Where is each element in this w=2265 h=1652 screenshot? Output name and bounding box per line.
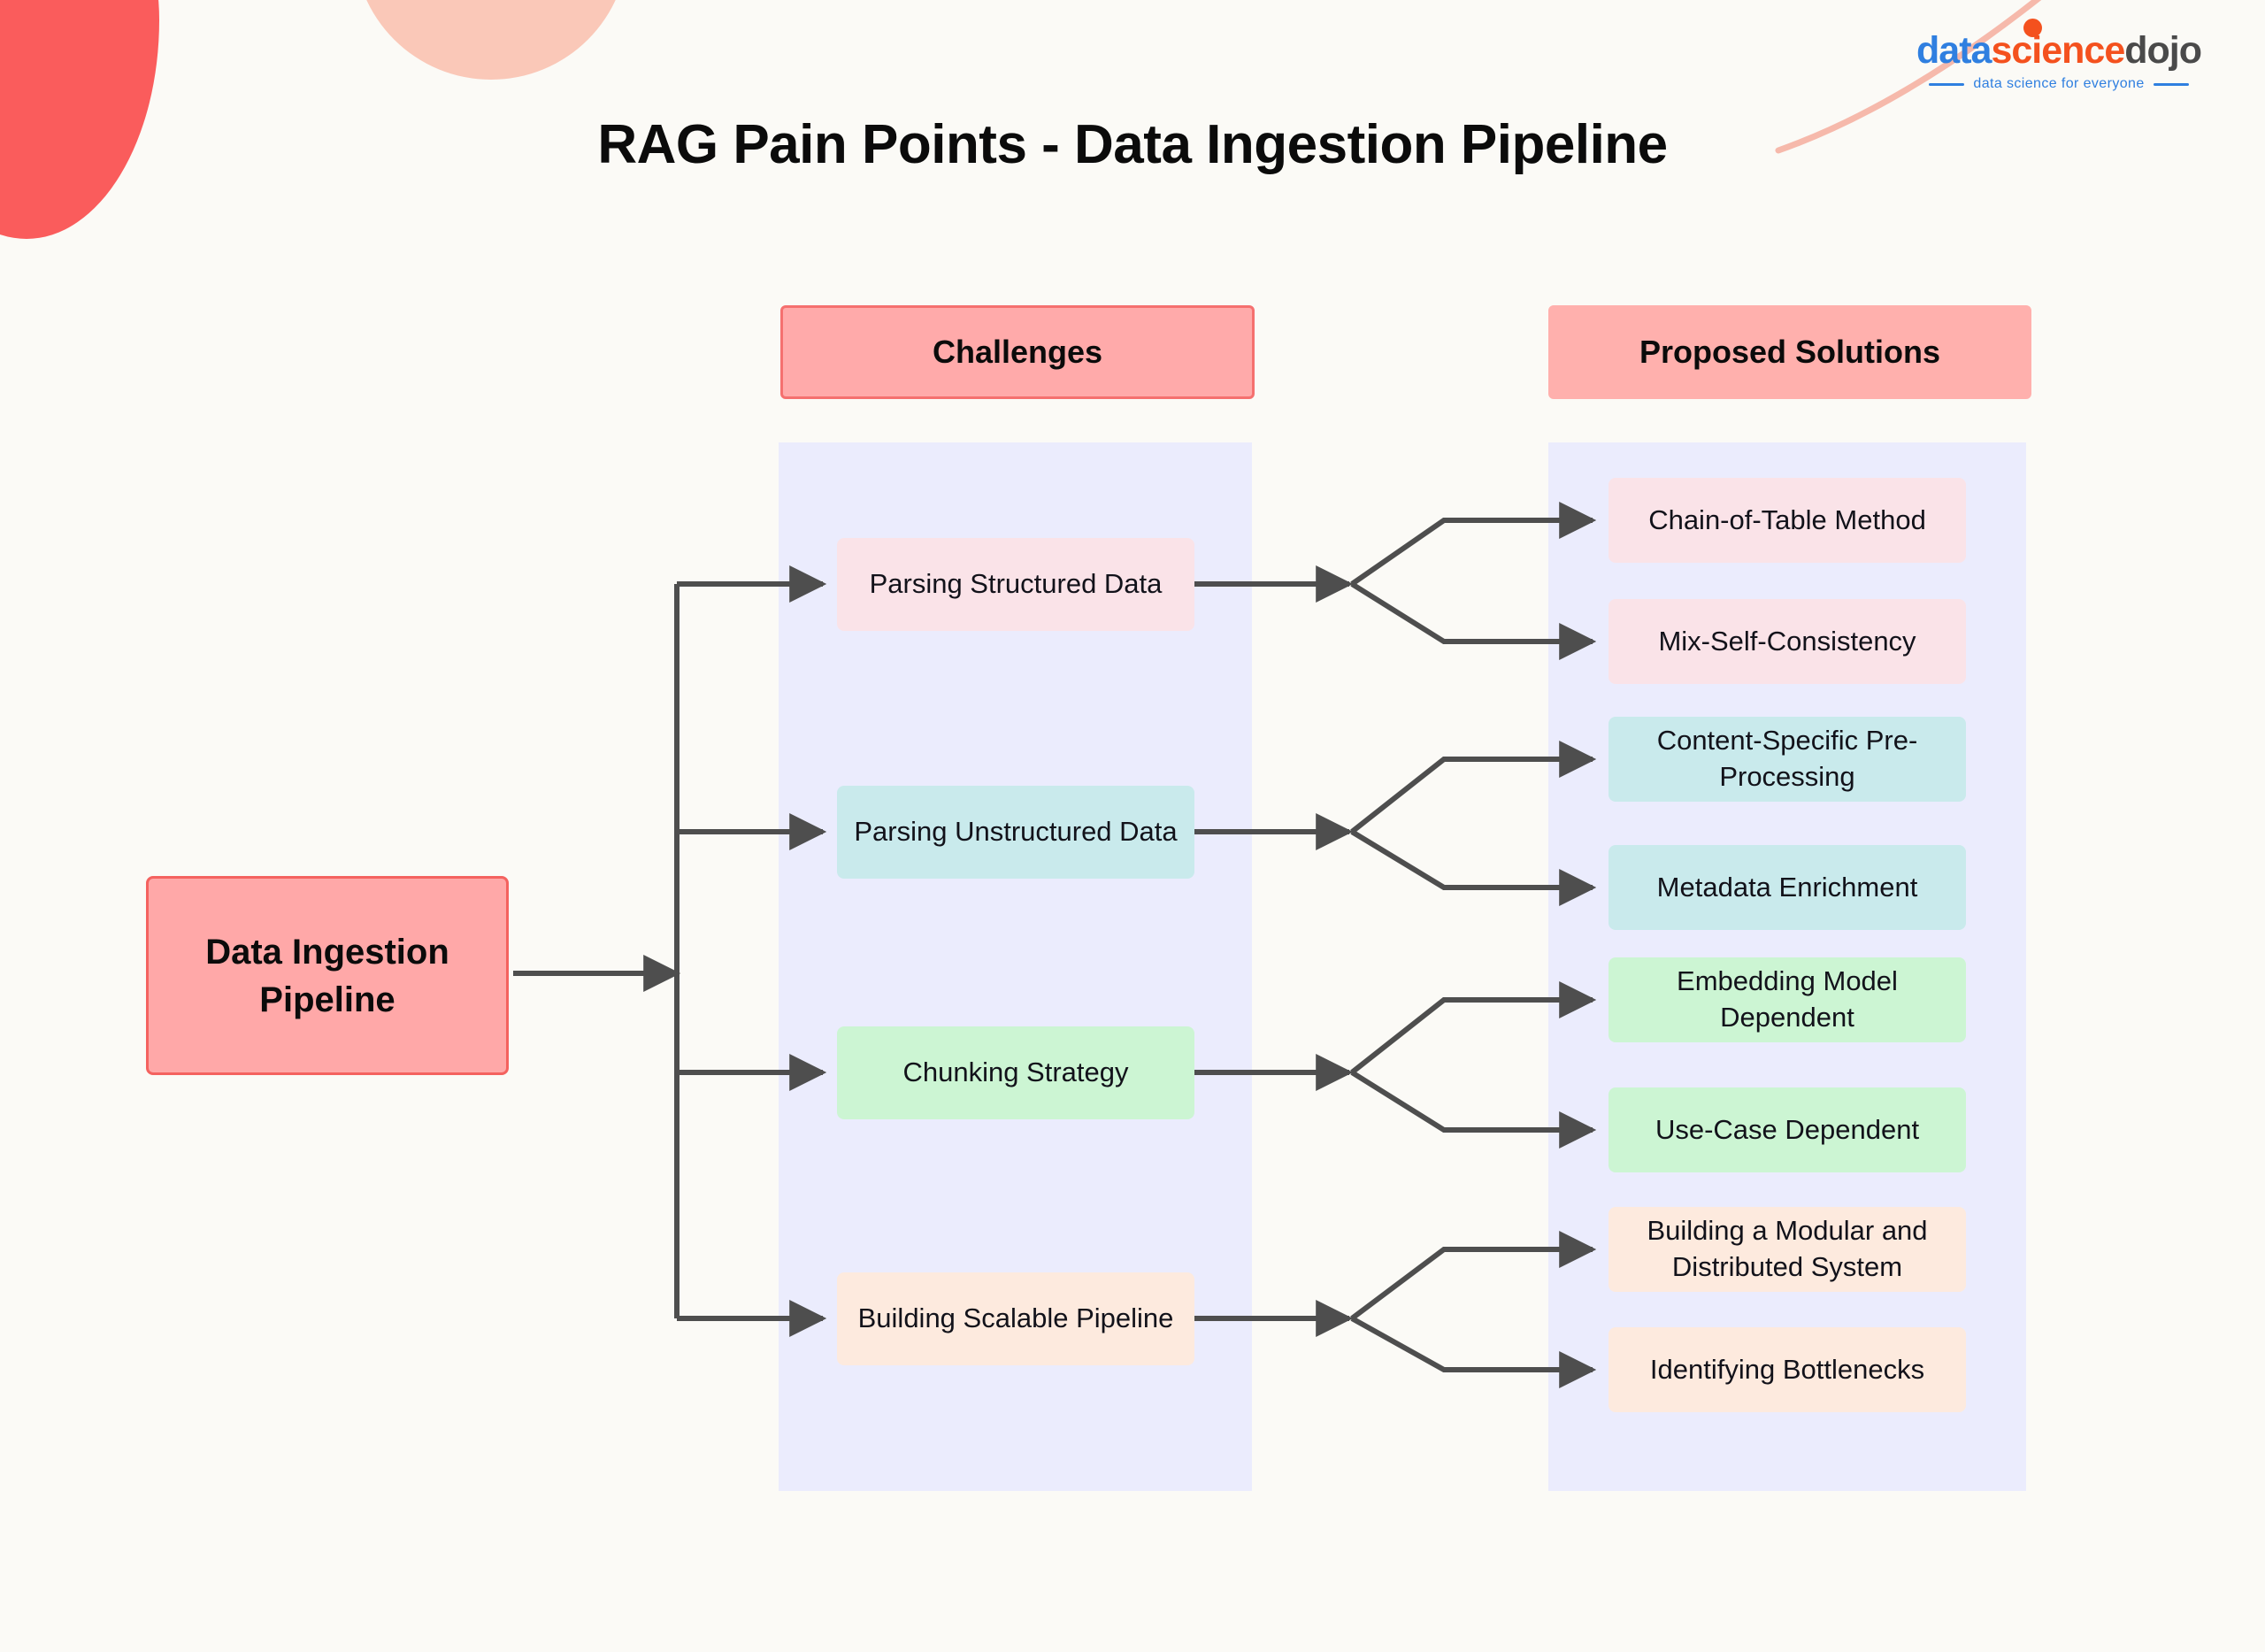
solution-node-chain-of-table-method[interactable]: Chain-of-Table Method <box>1609 478 1966 563</box>
challenge-node-parsing-structured-data[interactable]: Parsing Structured Data <box>837 538 1194 631</box>
solution-node-identifying-bottlenecks[interactable]: Identifying Bottlenecks <box>1609 1327 1966 1412</box>
solutions-column-header[interactable]: Proposed Solutions <box>1548 305 2031 399</box>
solution-node-content-specific-pre-processing[interactable]: Content-Specific Pre-Processing <box>1609 717 1966 802</box>
solution-node-embedding-model-dependent[interactable]: Embedding Model Dependent <box>1609 957 1966 1042</box>
solution-node-building-modular-distributed-system[interactable]: Building a Modular and Distributed Syste… <box>1609 1207 1966 1292</box>
edge-fork-2-up <box>1352 759 1593 832</box>
edge-fork-2-down <box>1352 832 1593 887</box>
challenges-column-header[interactable]: Challenges <box>780 305 1255 399</box>
edge-fork-1-up <box>1352 520 1593 584</box>
challenge-node-building-scalable-pipeline[interactable]: Building Scalable Pipeline <box>837 1272 1194 1365</box>
root-node-data-ingestion-pipeline[interactable]: Data Ingestion Pipeline <box>146 876 509 1075</box>
edge-fork-3-up <box>1352 1000 1593 1072</box>
solution-node-mix-self-consistency[interactable]: Mix-Self-Consistency <box>1609 599 1966 684</box>
edge-fork-4-down <box>1352 1318 1593 1370</box>
edge-fork-3-down <box>1352 1072 1593 1130</box>
challenge-node-parsing-unstructured-data[interactable]: Parsing Unstructured Data <box>837 786 1194 879</box>
solution-node-metadata-enrichment[interactable]: Metadata Enrichment <box>1609 845 1966 930</box>
slide-canvas: datasciencedojo data science for everyon… <box>0 0 2265 1652</box>
edge-fork-4-up <box>1352 1249 1593 1318</box>
solution-node-use-case-dependent[interactable]: Use-Case Dependent <box>1609 1087 1966 1172</box>
edge-fork-1-down <box>1352 584 1593 642</box>
challenge-node-chunking-strategy[interactable]: Chunking Strategy <box>837 1026 1194 1119</box>
